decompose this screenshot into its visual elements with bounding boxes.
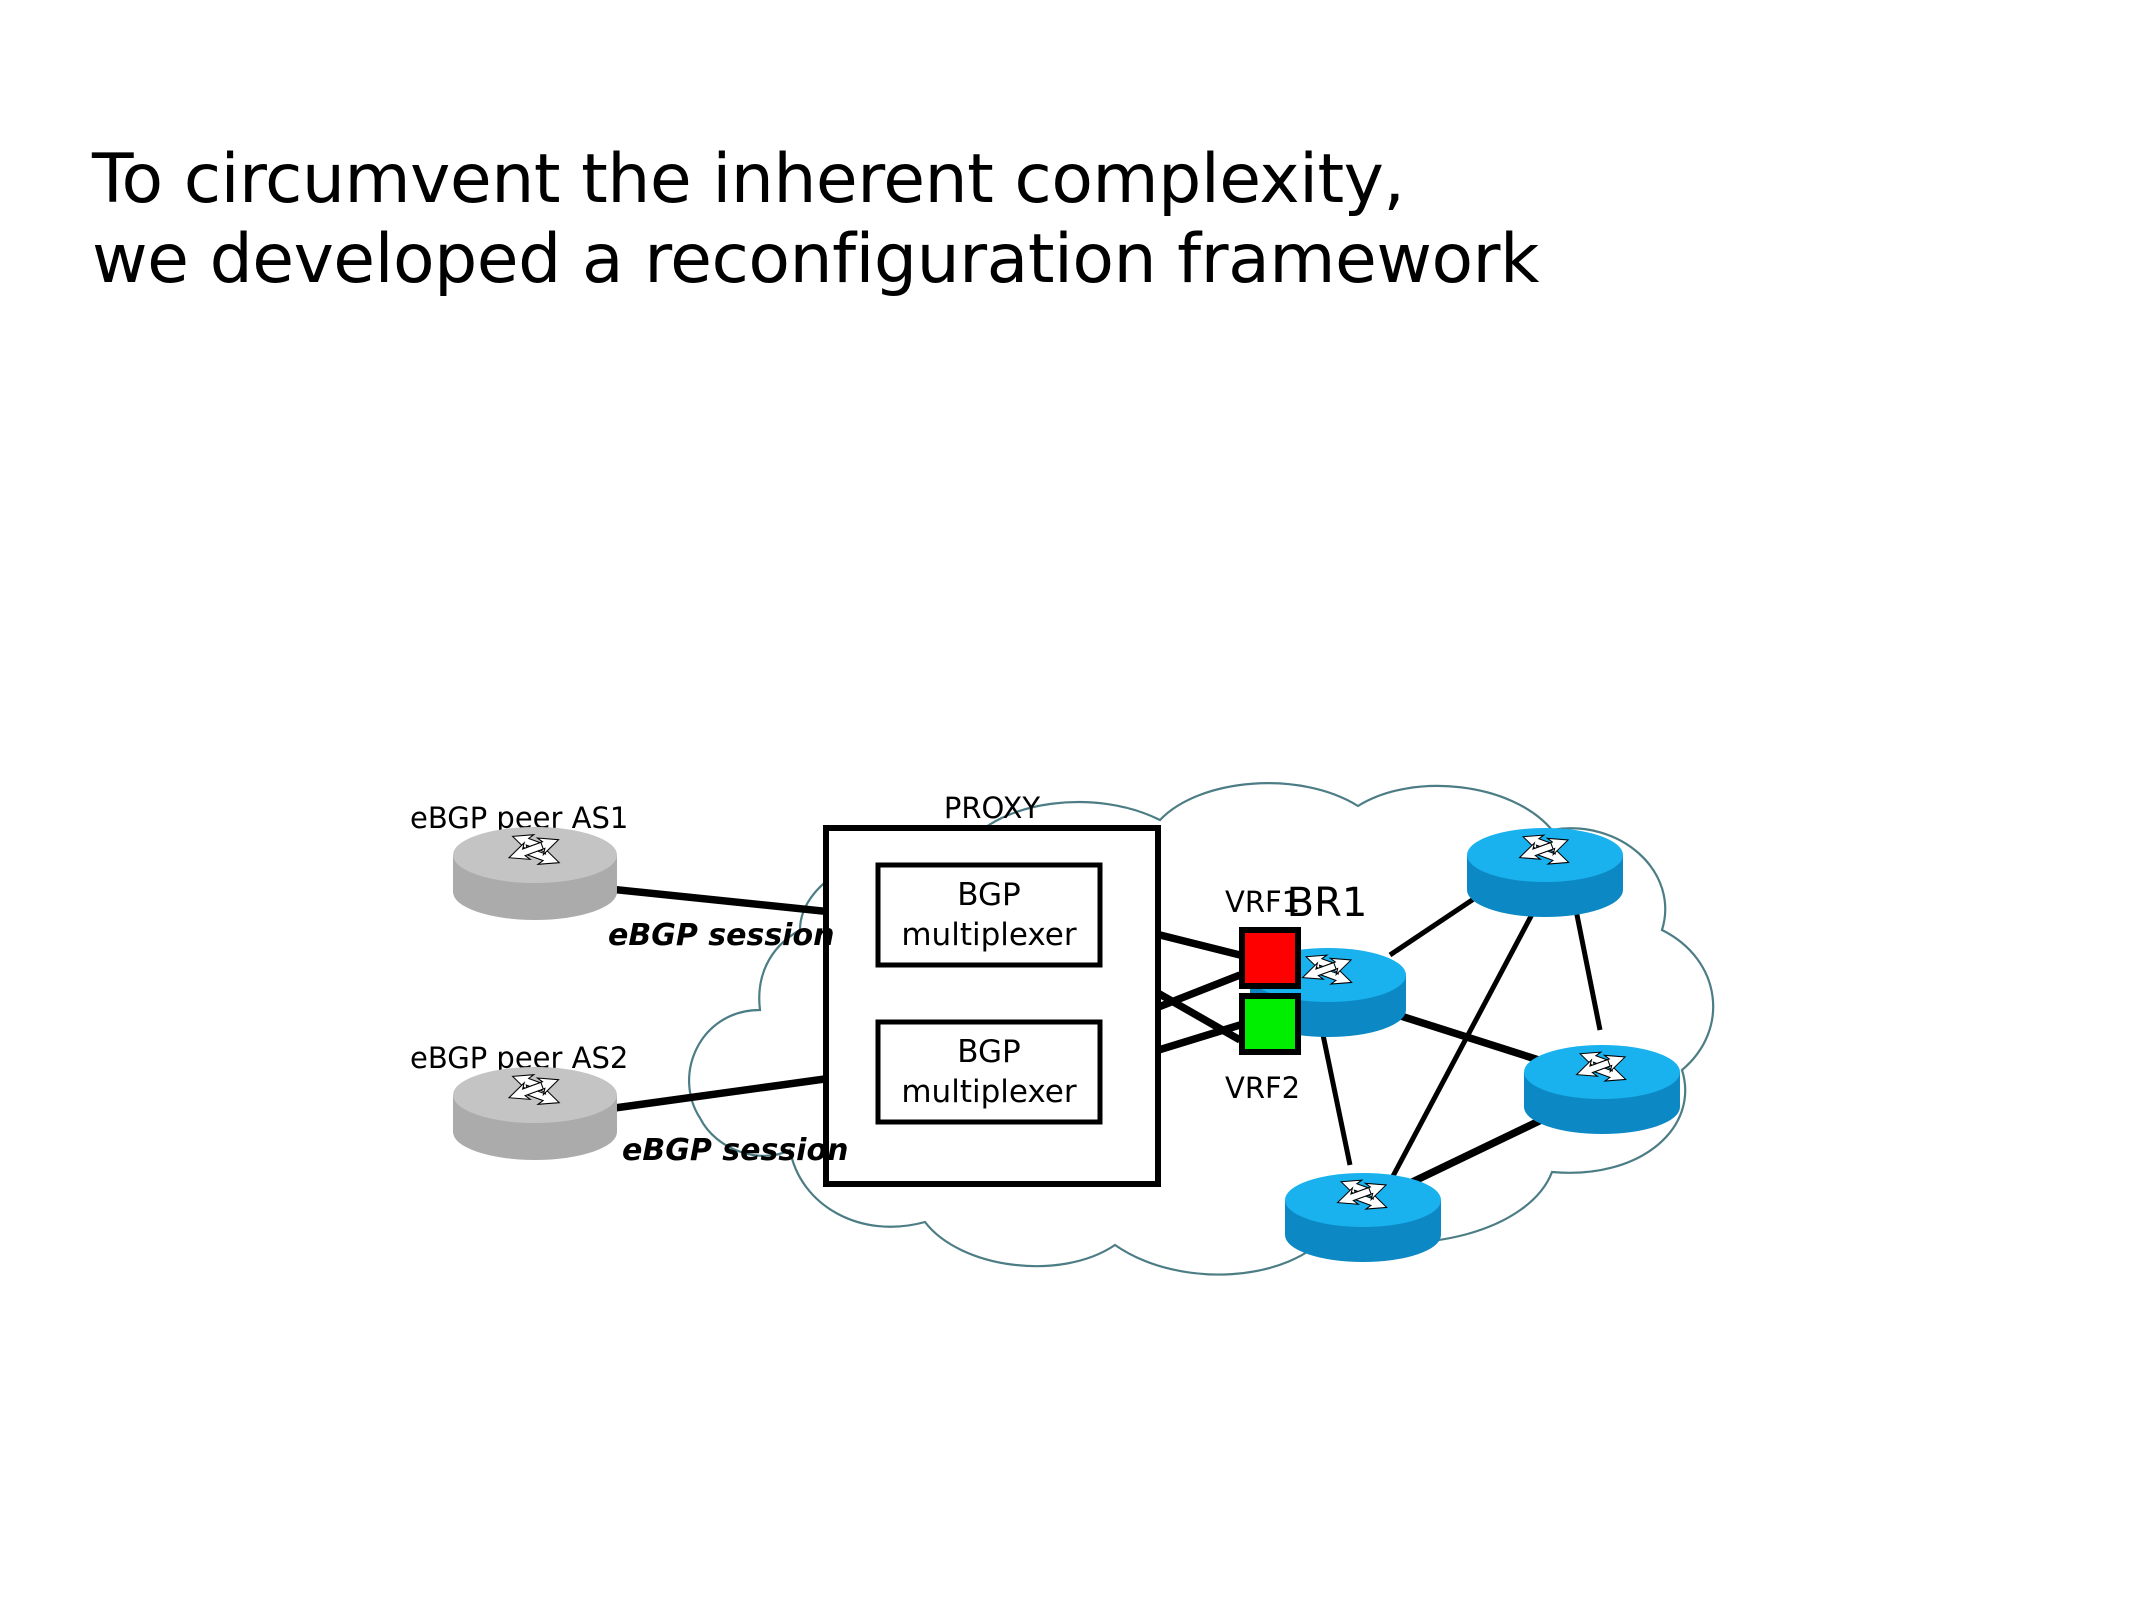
vrf2-indicator[interactable]: VRF2 (1225, 996, 1300, 1105)
ebgp-session-label-1: eBGP session (608, 918, 834, 953)
proxy-container[interactable]: PROXY (826, 791, 1158, 1184)
proxy-label: PROXY (944, 791, 1040, 825)
network-diagram: PROXY BGP multiplexer BGP multiplexer eB… (0, 0, 2134, 1600)
bgp-multiplexer-2-line2: multiplexer (901, 1074, 1077, 1110)
ebgp-session-label-2: eBGP session (622, 1133, 848, 1168)
core-router-bottom[interactable] (1285, 1173, 1441, 1262)
vrf2-label: VRF2 (1225, 1071, 1300, 1105)
slide-canvas: To circumvent the inherent complexity, w… (0, 0, 2134, 1600)
bgp-multiplexer-1-line1: BGP (957, 877, 1020, 913)
bgp-multiplexer-1[interactable]: BGP multiplexer (878, 865, 1100, 965)
core-router-top[interactable] (1467, 828, 1623, 917)
bgp-multiplexer-1-line2: multiplexer (901, 917, 1077, 953)
bgp-multiplexer-2-line1: BGP (957, 1034, 1020, 1070)
bgp-multiplexer-2[interactable]: BGP multiplexer (878, 1022, 1100, 1122)
core-router-right[interactable] (1524, 1045, 1680, 1134)
br1-label: BR1 (1287, 880, 1368, 926)
router-ebgp-peer-as1[interactable]: eBGP peer AS1 eBGP session (410, 801, 834, 953)
